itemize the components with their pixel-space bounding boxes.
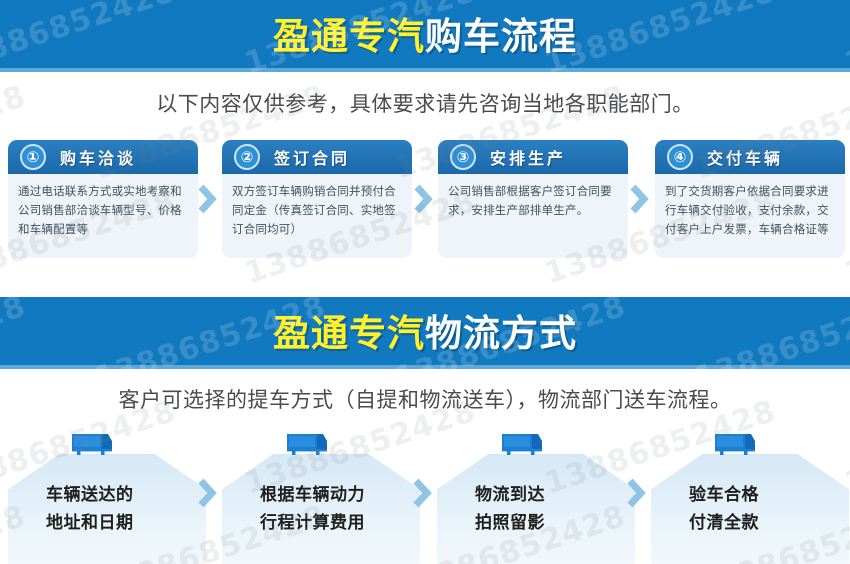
step-card-3-header: ③ 安排生产	[438, 140, 628, 174]
logistics-card-1-text: 车辆送达的 地址和日期	[46, 481, 134, 536]
step-body-1: 通过电话联系方式或实地考察和公司销售部洽谈车辆型号、价格和车辆配置等	[8, 174, 198, 240]
chevron-right-icon	[625, 476, 647, 510]
banner-title: 盈通专汽物流方式	[273, 315, 577, 352]
step-body-3: 公司销售部根据客户签订合同要求，安排生产部排单生产。	[438, 174, 628, 221]
step-title-3: 安排生产	[490, 145, 566, 169]
truck-icon	[500, 430, 546, 458]
purchase-process-banner: 盈通专汽购车流程	[0, 0, 850, 72]
banner-heading: 购车流程	[425, 16, 577, 57]
logistics-card-4-text: 验车合格 付清全款	[689, 481, 759, 536]
logistics-step-list: 车辆送达的 地址和日期 根据车辆动力 行程计算费用 物流到达 拍照留影 验车合格…	[0, 430, 850, 564]
truck-icon	[285, 430, 331, 458]
step-body-4: 到了交货期客户依据合同要求进行车辆交付验收，支付余款，交付客户上户发票，车辆合格…	[655, 174, 845, 240]
logistics-card-2: 根据车辆动力 行程计算费用	[222, 454, 420, 564]
brand-name: 盈通专汽	[273, 16, 425, 57]
step-card-3: ③ 安排生产 公司销售部根据客户签订合同要求，安排生产部排单生产。	[438, 140, 628, 258]
logistics-card-4: 验车合格 付清全款	[651, 454, 849, 564]
chevron-right-icon	[412, 182, 434, 216]
logistics-subtitle: 客户可选择的提车方式（自提和物流送车），物流部门送车流程。	[0, 384, 850, 414]
step-number-badge-4: ④	[667, 144, 693, 170]
truck-icon	[713, 430, 759, 458]
chevron-right-icon	[196, 182, 218, 216]
step-card-2-header: ② 签订合同	[222, 140, 412, 174]
step-title-4: 交付车辆	[707, 145, 783, 169]
logistics-card-3-text: 物流到达 拍照留影	[475, 481, 545, 536]
logistics-banner: 盈通专汽物流方式	[0, 297, 850, 369]
step-card-4: ④ 交付车辆 到了交货期客户依据合同要求进行车辆交付验收，支付余款，交付客户上户…	[655, 140, 845, 258]
logistics-card-3: 物流到达 拍照留影	[437, 454, 635, 564]
logistics-card-1-line1: 车辆送达的	[46, 481, 134, 509]
step-card-1-header: ① 购车洽谈	[8, 140, 198, 174]
logistics-card-3-line1: 物流到达	[475, 481, 545, 509]
logistics-card-2-line1: 根据车辆动力	[260, 481, 365, 509]
logistics-card-4-line2: 付清全款	[689, 509, 759, 537]
step-card-2: ② 签订合同 双方签订车辆购销合同并预付合同定金（传真签订合同、实地签订合同均可…	[222, 140, 412, 258]
logistics-card-2-line2: 行程计算费用	[260, 509, 365, 537]
logistics-card-1-line2: 地址和日期	[46, 509, 134, 537]
logistics-card-1: 车辆送达的 地址和日期	[8, 454, 206, 564]
brand-name: 盈通专汽	[273, 313, 425, 354]
chevron-right-icon	[628, 182, 650, 216]
step-number-badge-1: ①	[20, 144, 46, 170]
banner-title-group: 盈通专汽购车流程	[0, 0, 850, 72]
step-body-2: 双方签订车辆购销合同并预付合同定金（传真签订合同、实地签订合同均可）	[222, 174, 412, 240]
truck-icon	[70, 430, 116, 458]
step-number-badge-2: ②	[234, 144, 260, 170]
step-title-1: 购车洽谈	[60, 145, 136, 169]
step-card-1: ① 购车洽谈 通过电话联系方式或实地考察和公司销售部洽谈车辆型号、价格和车辆配置…	[8, 140, 198, 258]
banner-title-group: 盈通专汽物流方式	[0, 297, 850, 369]
logistics-card-4-line1: 验车合格	[689, 481, 759, 509]
logistics-card-2-text: 根据车辆动力 行程计算费用	[260, 481, 365, 536]
banner-heading: 物流方式	[425, 313, 577, 354]
step-card-4-header: ④ 交付车辆	[655, 140, 845, 174]
step-number-badge-3: ③	[450, 144, 476, 170]
chevron-right-icon	[196, 476, 218, 510]
purchase-process-subtitle: 以下内容仅供参考，具体要求请先咨询当地各职能部门。	[0, 88, 850, 118]
purchase-step-list: ① 购车洽谈 通过电话联系方式或实地考察和公司销售部洽谈车辆型号、价格和车辆配置…	[0, 140, 850, 270]
step-title-2: 签订合同	[274, 145, 350, 169]
banner-title: 盈通专汽购车流程	[273, 18, 577, 55]
logistics-card-3-line2: 拍照留影	[475, 509, 545, 537]
chevron-right-icon	[411, 476, 433, 510]
